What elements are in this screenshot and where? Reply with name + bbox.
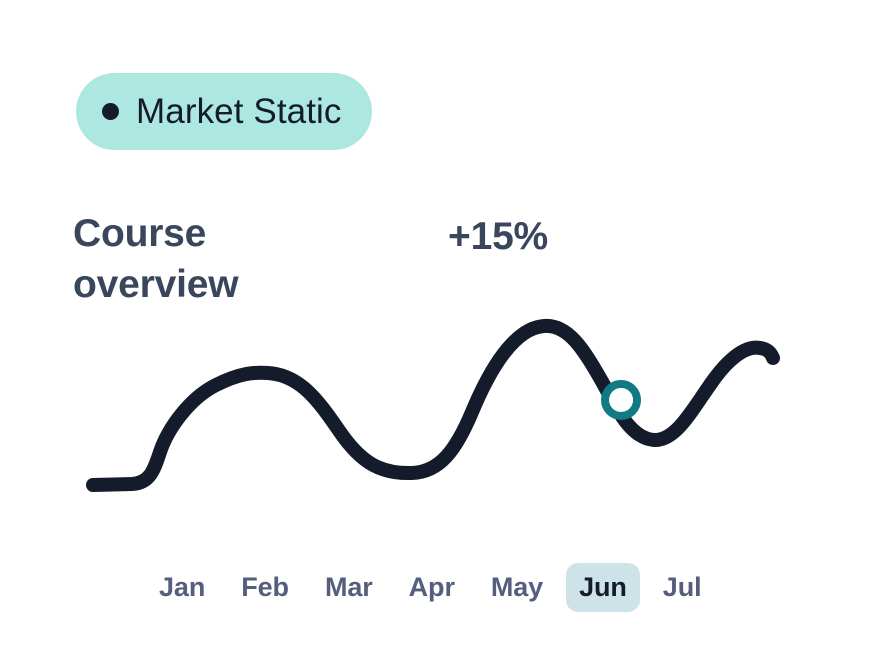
- highlight-marker-center: [609, 388, 633, 412]
- month-tab-feb[interactable]: Feb: [228, 563, 302, 612]
- month-tab-jul[interactable]: Jul: [650, 563, 715, 612]
- month-tab-apr[interactable]: Apr: [396, 563, 468, 612]
- month-tab-jan[interactable]: Jan: [146, 563, 218, 612]
- month-tab-mar[interactable]: Mar: [312, 563, 386, 612]
- series-line-market-static: [93, 326, 773, 485]
- month-tab-may[interactable]: May: [478, 563, 556, 612]
- legend-label: Market Static: [136, 94, 342, 129]
- legend-dot-icon: [102, 103, 119, 120]
- chart-card: Market Static Course overview +15% JanFe…: [0, 0, 888, 672]
- delta-value: +15%: [448, 211, 548, 262]
- month-tab-jun[interactable]: Jun: [566, 563, 640, 612]
- legend-chip-market-static[interactable]: Market Static: [76, 73, 372, 150]
- headline-row: Course overview +15%: [73, 208, 583, 311]
- month-axis: JanFebMarAprMayJunJul: [146, 563, 715, 612]
- highlight-marker-jun[interactable]: [605, 384, 637, 416]
- page-title: Course overview: [73, 208, 313, 311]
